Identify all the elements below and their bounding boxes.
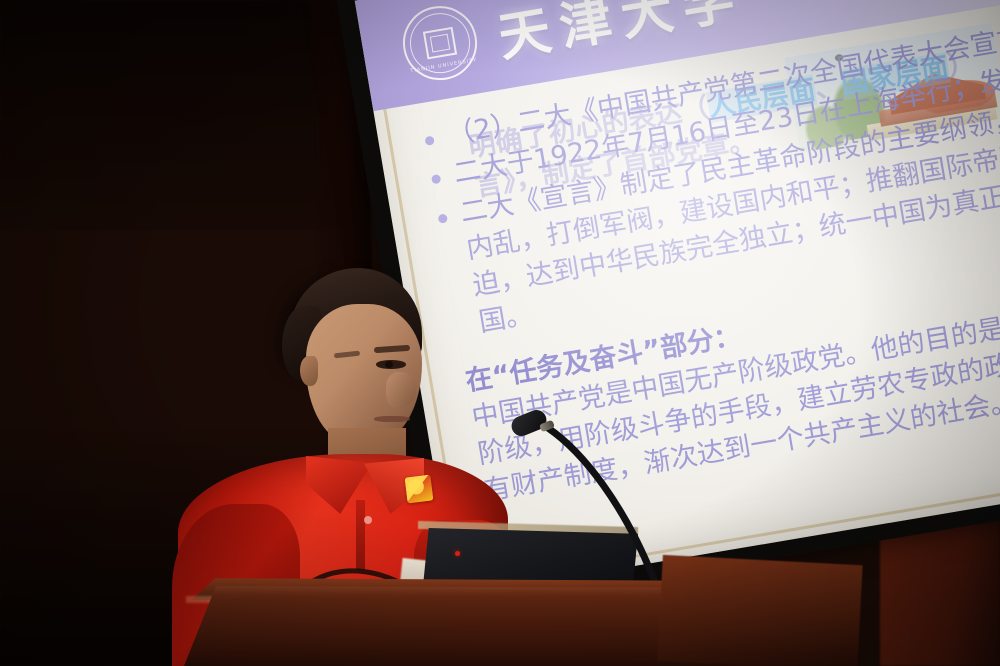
speaker-mouth [374,416,410,422]
podium-side-panel [657,555,862,666]
bullet-dot-icon [438,213,448,223]
laptop-logo-dot-icon [455,551,460,556]
tianjin-university-seal-icon: TIANJIN UNIVERSITY [397,0,482,85]
speaker-eye-left [336,365,356,373]
seal-core-glyph [423,27,457,60]
wall-shadow-top [0,0,352,230]
party-emblem-badge-icon [405,475,434,504]
speaker-eye-right [376,360,406,369]
bullet-dot-icon [424,136,434,146]
seal-subtext: TIANJIN UNIVERSITY [409,57,479,75]
photo-scene: TIANJIN UNIVERSITY 天津大学 明确了初心的表达（人民层面、国家… [0,0,1000,666]
speaker-shirt-button [364,516,372,524]
bullet-dot-icon [431,174,441,184]
speaker-ear [300,356,318,386]
